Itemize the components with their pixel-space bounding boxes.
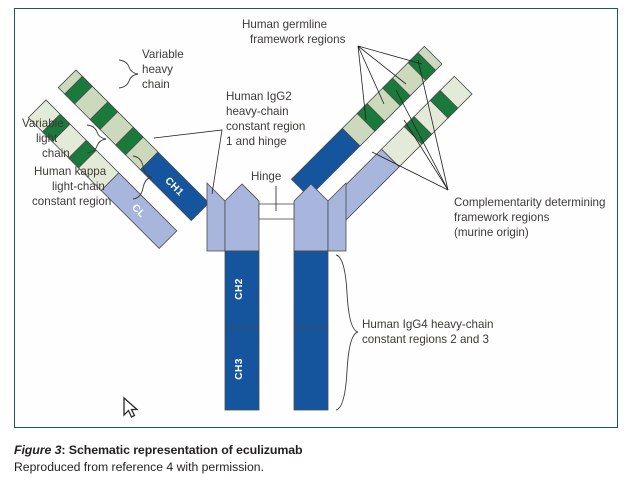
cdr-line-1: Complementarity determining — [454, 196, 605, 209]
label-igg4: Human IgG4 heavy-chain constant regions … — [336, 255, 493, 410]
igg4-line-1: Human IgG4 heavy-chain — [362, 318, 493, 331]
figure-panel: CH1 CL — [0, 0, 633, 485]
left-ch3-label: CH3 — [234, 358, 245, 380]
germline-line-1: Human germline — [242, 18, 327, 31]
label-variable-heavy: Variable heavy chain — [119, 48, 184, 91]
left-hinge-arm — [207, 183, 225, 251]
variable-heavy-line-1: Variable — [142, 48, 184, 61]
igg2-line-2: heavy-chain — [226, 105, 289, 118]
hinge-connector — [259, 204, 294, 219]
variable-heavy-line-2: heavy — [142, 63, 173, 76]
figure-caption: Figure 3: Schematic representation of ec… — [14, 442, 618, 475]
right-ch3 — [294, 328, 328, 410]
variable-light-line-2: light — [36, 132, 58, 145]
right-hinge-arm — [328, 183, 346, 251]
kappa-line-1: Human kappa — [34, 165, 107, 178]
variable-light-line-3: chain — [42, 147, 70, 160]
igg2-line-1: Human IgG2 — [226, 90, 292, 103]
variable-light-line-1: Variable — [22, 117, 64, 130]
kappa-line-3: constant region — [32, 195, 111, 208]
variable-heavy-line-3: chain — [142, 78, 170, 91]
germline-leader-2 — [358, 46, 406, 84]
kappa-line-2: light-chain — [52, 180, 105, 193]
igg4-line-2: constant regions 2 and 3 — [362, 333, 489, 346]
caption-title-text: : Schematic representation of eculizumab — [61, 443, 302, 457]
igg2-line-3: constant region — [226, 120, 305, 133]
igg2-line-4: 1 and hinge — [226, 135, 287, 148]
germline-line-2: framework regions — [250, 33, 346, 46]
left-hinge-joint — [225, 184, 259, 251]
antibody-schematic: CH1 CL — [14, 8, 618, 428]
caption-figure-number: Figure 3 — [14, 443, 61, 457]
caption-credit: Reproduced from reference 4 with permiss… — [14, 459, 618, 476]
hinge-region — [207, 183, 346, 251]
fc-stems: CH2 CH3 — [225, 251, 328, 410]
left-ch2-label: CH2 — [234, 278, 245, 300]
hinge-label: Hinge — [251, 170, 281, 183]
germline-leader-3 — [358, 46, 384, 104]
cdr-line-3: (murine origin) — [454, 226, 529, 239]
cdr-line-2: framework regions — [454, 211, 550, 224]
right-hinge-joint — [294, 184, 328, 251]
caption-title-line: Figure 3: Schematic representation of ec… — [14, 442, 618, 459]
germline-leader-1 — [358, 46, 422, 64]
right-ch2 — [294, 251, 328, 328]
